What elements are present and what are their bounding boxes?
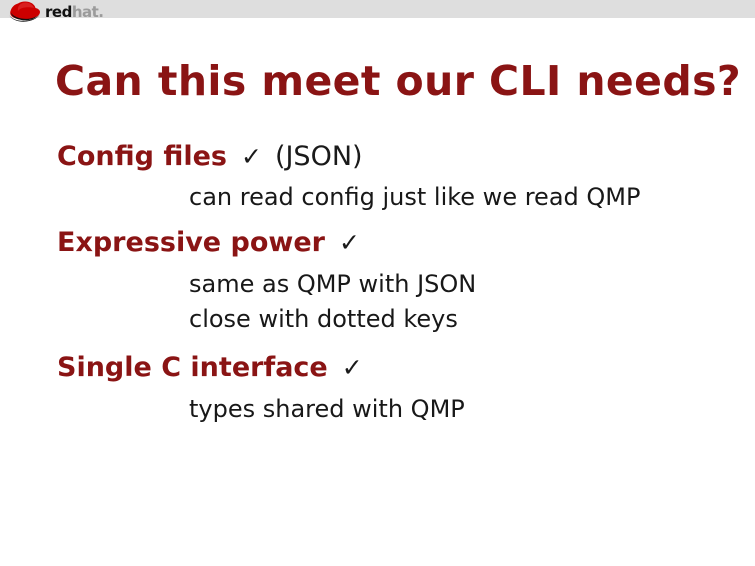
bullet-heading-label: Config files	[57, 143, 227, 170]
bullet-heading-label: Expressive power	[57, 229, 325, 256]
bullet-heading-row: Single C interface ✓	[0, 354, 755, 381]
wordmark-red: red	[45, 3, 72, 21]
redhat-logo: redhat.	[8, 0, 104, 22]
bullet-heading-note: (JSON)	[275, 143, 363, 170]
bullet-heading-row: Expressive power ✓	[0, 229, 755, 256]
sub-item: same as QMP with JSON	[0, 272, 755, 296]
check-icon: ✓	[339, 230, 360, 255]
redhat-wordmark: redhat.	[45, 5, 104, 20]
redhat-shadowman-icon	[8, 0, 42, 22]
sub-item: can read config just like we read QMP	[0, 185, 755, 209]
bullet-heading-row: Config files ✓ (JSON)	[0, 143, 755, 170]
slide-content: Config files ✓ (JSON) can read config ju…	[0, 140, 755, 421]
sub-item: close with dotted keys	[0, 307, 755, 331]
bullet-heading-label: Single C interface	[57, 354, 328, 381]
bullet-block-config-files: Config files ✓ (JSON) can read config ju…	[0, 143, 755, 209]
wordmark-hat: hat	[72, 3, 98, 21]
wordmark-period: .	[98, 3, 103, 21]
check-icon: ✓	[342, 355, 363, 380]
check-icon: ✓	[241, 144, 262, 169]
bullet-block-single-c-interface: Single C interface ✓ types shared with Q…	[0, 354, 755, 421]
bullet-block-expressive-power: Expressive power ✓ same as QMP with JSON…	[0, 229, 755, 331]
top-band	[0, 0, 755, 18]
page-title: Can this meet our CLI needs?	[55, 57, 741, 105]
sub-item: types shared with QMP	[0, 397, 755, 421]
